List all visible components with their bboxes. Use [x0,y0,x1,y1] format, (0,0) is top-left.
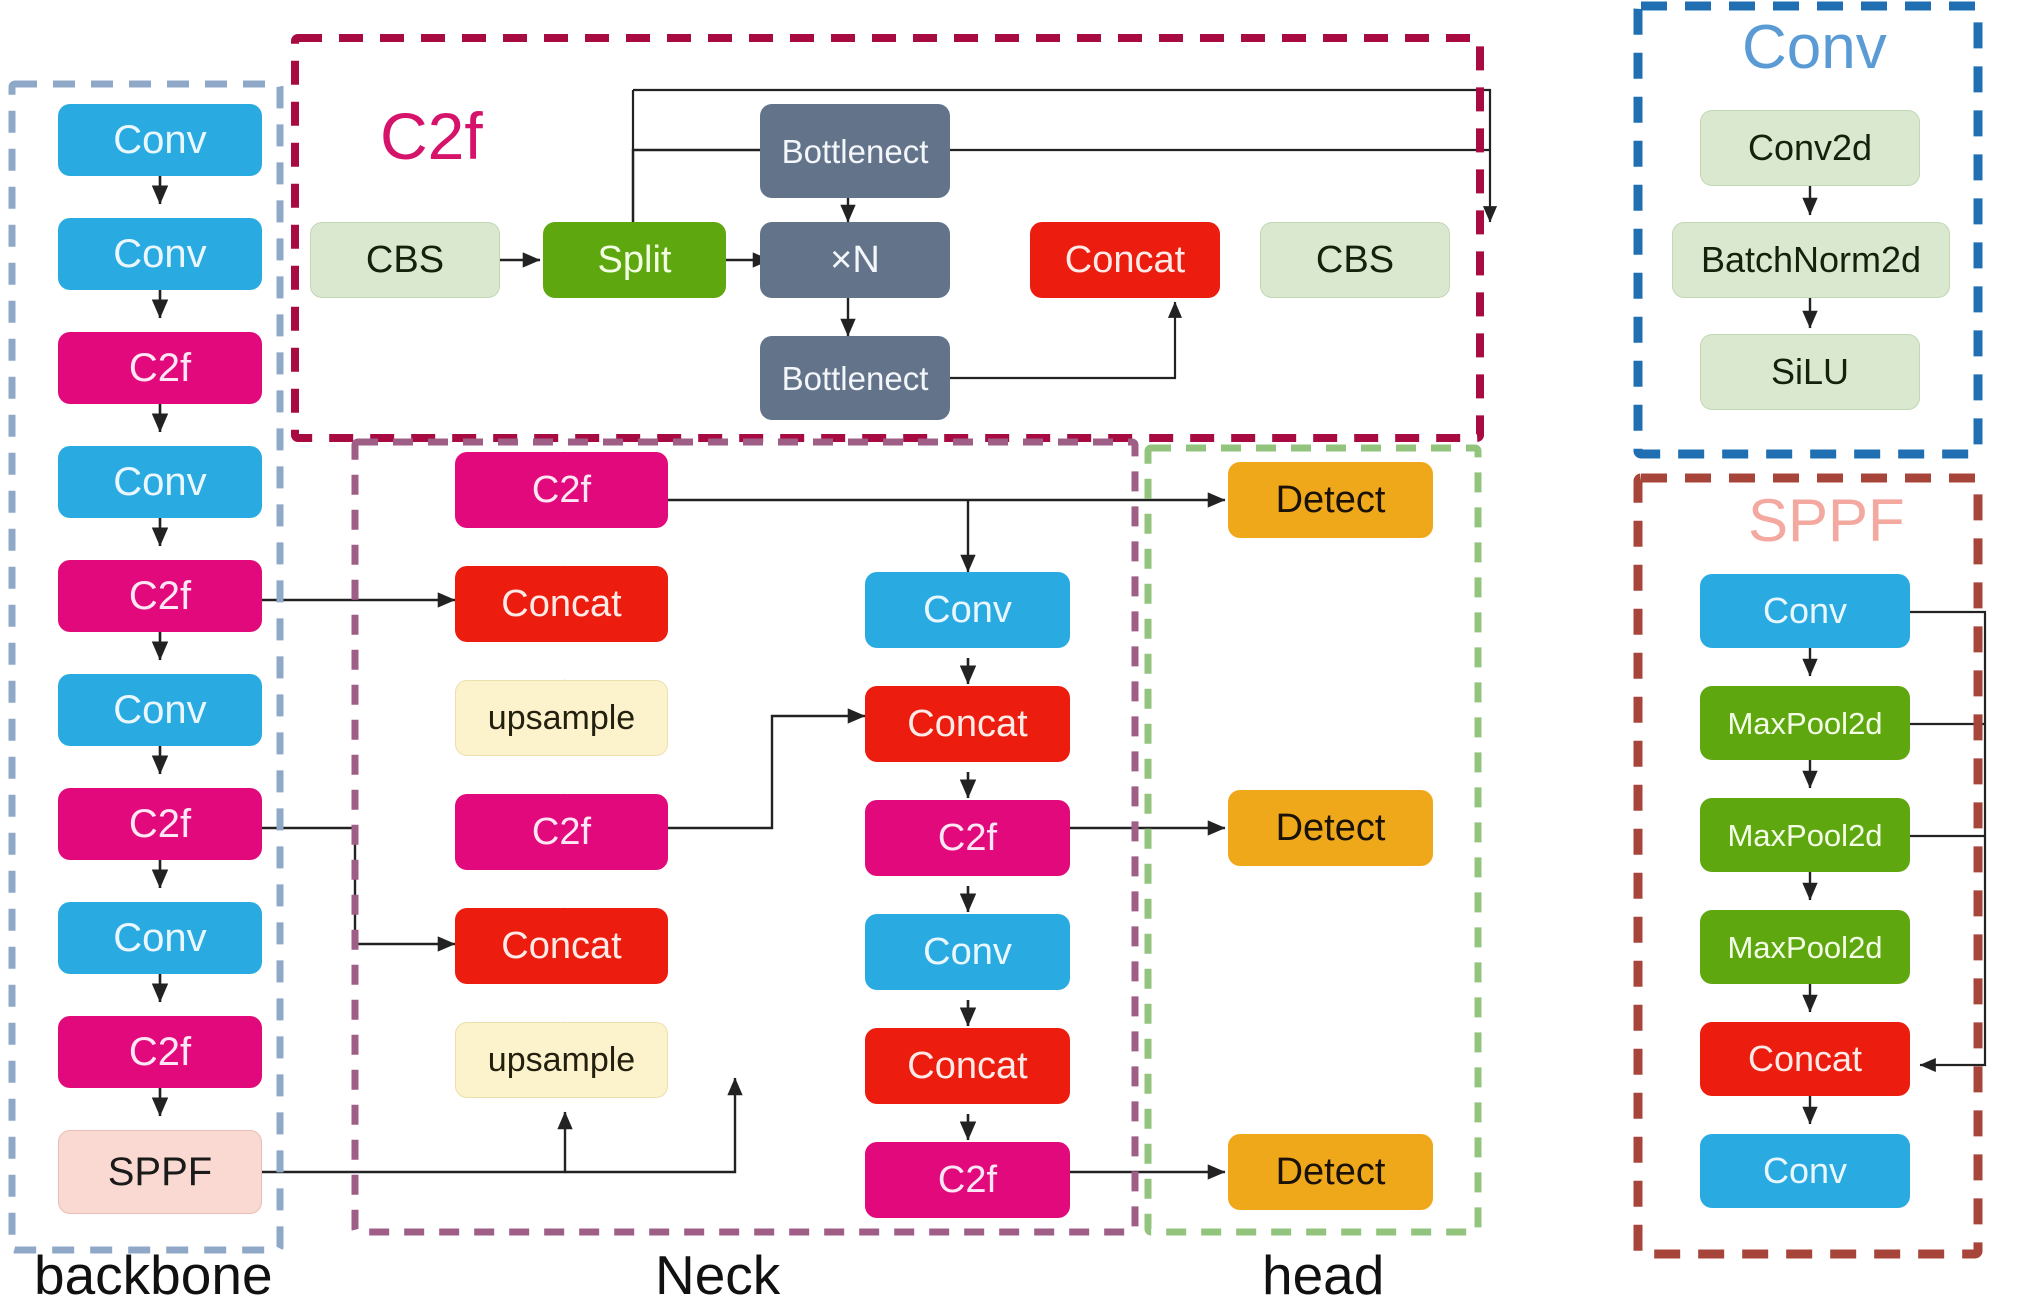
backbone-node-conv-1[interactable]: Conv [58,104,262,176]
sppf-panel-node-concat[interactable]: Concat [1700,1022,1910,1096]
neck-right-node-conv-bottom[interactable]: Conv [865,914,1070,990]
neck-left-node-upsample-bottom[interactable]: upsample [455,1022,668,1098]
architecture-diagram: backbone Neck head C2f Conv SPPF Conv Co… [0,0,2031,1299]
backbone-node-conv-2[interactable]: Conv [58,218,262,290]
conv-panel-node-silu[interactable]: SiLU [1700,334,1920,410]
c2f-panel-node-bottleneck-bottom[interactable]: Bottlenect [760,336,950,420]
backbone-node-conv-5[interactable]: Conv [58,902,262,974]
c2f-panel-title: C2f [380,98,483,174]
backbone-node-c2f-2[interactable]: C2f [58,560,262,632]
backbone-node-conv-3[interactable]: Conv [58,446,262,518]
neck-right-node-concat-top[interactable]: Concat [865,686,1070,762]
backbone-label: backbone [34,1243,273,1299]
sppf-panel-node-conv-in[interactable]: Conv [1700,574,1910,648]
c2f-panel-node-xn[interactable]: ×N [760,222,950,298]
c2f-panel-node-cbs-in[interactable]: CBS [310,222,500,298]
neck-right-node-c2f-bottom[interactable]: C2f [865,1142,1070,1218]
neck-right-node-concat-bottom[interactable]: Concat [865,1028,1070,1104]
neck-left-node-c2f-mid[interactable]: C2f [455,794,668,870]
conv-panel-node-conv2d[interactable]: Conv2d [1700,110,1920,186]
head-node-detect-1[interactable]: Detect [1228,462,1433,538]
backbone-node-conv-4[interactable]: Conv [58,674,262,746]
head-node-detect-3[interactable]: Detect [1228,1134,1433,1210]
c2f-panel-node-bottleneck-top[interactable]: Bottlenect [760,104,950,198]
sppf-panel-title: SPPF [1748,486,1905,555]
c2f-panel-node-split[interactable]: Split [543,222,726,298]
c2f-panel-node-concat[interactable]: Concat [1030,222,1220,298]
conv-panel-node-batchnorm2d[interactable]: BatchNorm2d [1672,222,1950,298]
sppf-panel-node-maxpool-3[interactable]: MaxPool2d [1700,910,1910,984]
neck-left-node-upsample-top[interactable]: upsample [455,680,668,756]
neck-right-node-c2f-mid[interactable]: C2f [865,800,1070,876]
backbone-node-c2f-4[interactable]: C2f [58,1016,262,1088]
group-boxes [0,0,2031,1299]
backbone-node-c2f-3[interactable]: C2f [58,788,262,860]
neck-right-node-conv-top[interactable]: Conv [865,572,1070,648]
neck-left-node-c2f-top[interactable]: C2f [455,452,668,528]
neck-left-node-concat-bottom[interactable]: Concat [455,908,668,984]
neck-left-node-concat-top[interactable]: Concat [455,566,668,642]
sppf-panel-node-maxpool-2[interactable]: MaxPool2d [1700,798,1910,872]
backbone-node-sppf[interactable]: SPPF [58,1130,262,1214]
conv-panel-title: Conv [1742,12,1887,83]
neck-label: Neck [655,1243,780,1299]
c2f-panel-node-cbs-out[interactable]: CBS [1260,222,1450,298]
head-node-detect-2[interactable]: Detect [1228,790,1433,866]
sppf-panel-node-maxpool-1[interactable]: MaxPool2d [1700,686,1910,760]
head-label: head [1262,1243,1384,1299]
sppf-panel-node-conv-out[interactable]: Conv [1700,1134,1910,1208]
backbone-node-c2f-1[interactable]: C2f [58,332,262,404]
